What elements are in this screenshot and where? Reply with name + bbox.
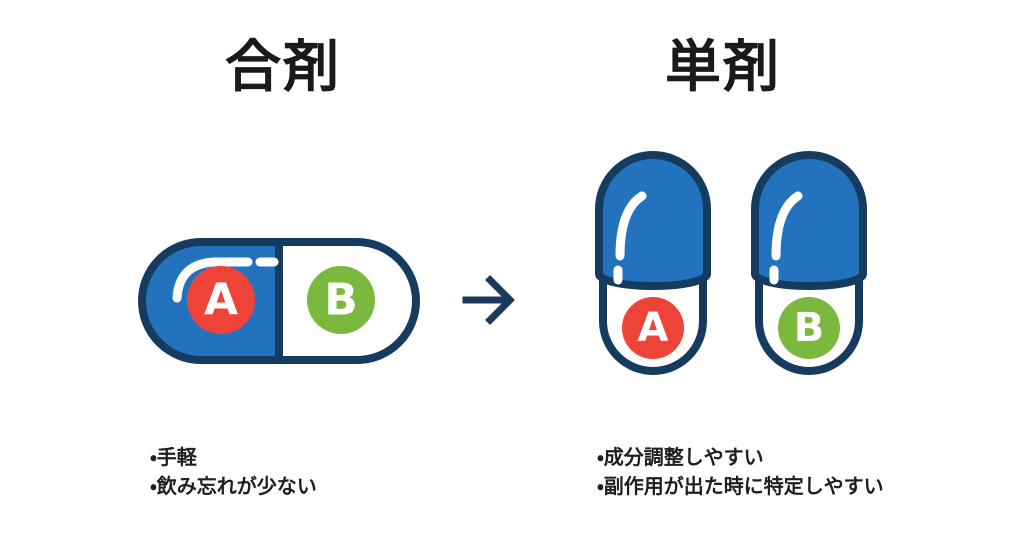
left-panel-bullet-list: ・手軽 ・飲み忘れが少ない xyxy=(150,443,317,501)
marker-label-b: B xyxy=(794,305,825,351)
bullet-item: ・手軽 xyxy=(150,443,317,472)
right-panel-bullet-list: ・成分調整しやすい ・副作用が出た時に特定しやすい xyxy=(597,443,884,501)
single-capsule-a-top-half xyxy=(599,155,707,286)
left-panel-title: 合剤 xyxy=(225,40,341,96)
single-capsule-a: A xyxy=(594,148,712,384)
combined-capsule: A B xyxy=(138,238,420,364)
bullet-item: ・副作用が出た時に特定しやすい xyxy=(597,472,884,501)
right-panel-title: 単剤 xyxy=(665,40,781,96)
single-capsule-b-top-half xyxy=(755,155,863,286)
marker-label-a: A xyxy=(638,305,669,351)
bullet-item: ・成分調整しやすい xyxy=(597,443,884,472)
right-arrow-icon xyxy=(458,268,522,332)
bullet-item: ・飲み忘れが少ない xyxy=(150,472,317,501)
marker-label-b: B xyxy=(324,275,358,326)
marker-label-a: A xyxy=(204,275,238,326)
single-capsule-b: B xyxy=(750,148,868,384)
slide-canvas: 合剤 単剤 A B A xyxy=(0,0,1024,559)
